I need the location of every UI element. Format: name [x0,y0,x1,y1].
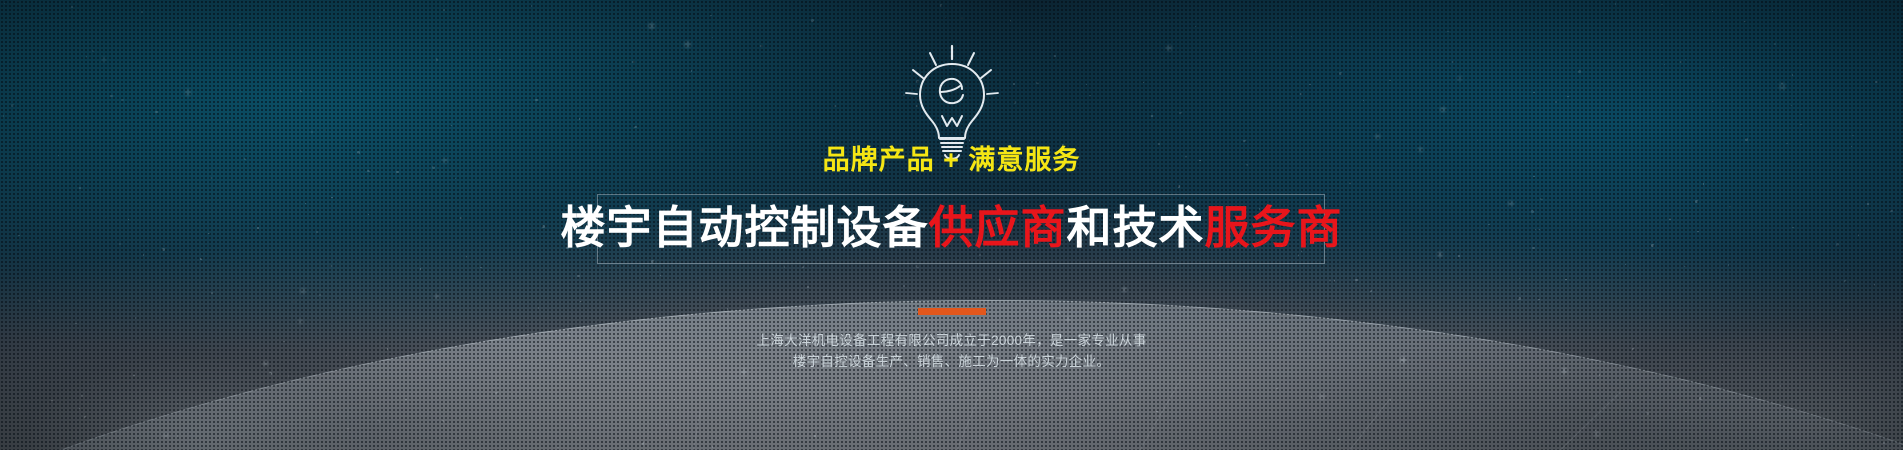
headline-segment-1: 供应商 [928,205,1066,250]
headline-segment-3: 服务商 [1205,205,1343,250]
banner-content: 品牌产品 + 满意服务 楼宇自动控制设备供应商和技术服务商 上海大洋机电设备工程… [0,0,1903,450]
headline-segment-2: 和技术 [1067,205,1205,250]
headline: 楼宇自动控制设备供应商和技术服务商 [0,196,1903,258]
headline-segment-0: 楼宇自动控制设备 [560,205,928,250]
tagline-text: 品牌产品 + 满意服务 [801,147,1103,174]
tagline-row: 品牌产品 + 满意服务 [0,142,1903,178]
description-line-1: 楼宇自控设备生产、销售、施工为一体的实力企业。 [0,351,1903,372]
description-text: 上海大洋机电设备工程有限公司成立于2000年，是一家专业从事楼宇自控设备生产、销… [0,330,1903,372]
description-line-0: 上海大洋机电设备工程有限公司成立于2000年，是一家专业从事 [0,330,1903,351]
orange-divider [918,308,986,315]
hero-banner: 品牌产品 + 满意服务 楼宇自动控制设备供应商和技术服务商 上海大洋机电设备工程… [0,0,1903,450]
